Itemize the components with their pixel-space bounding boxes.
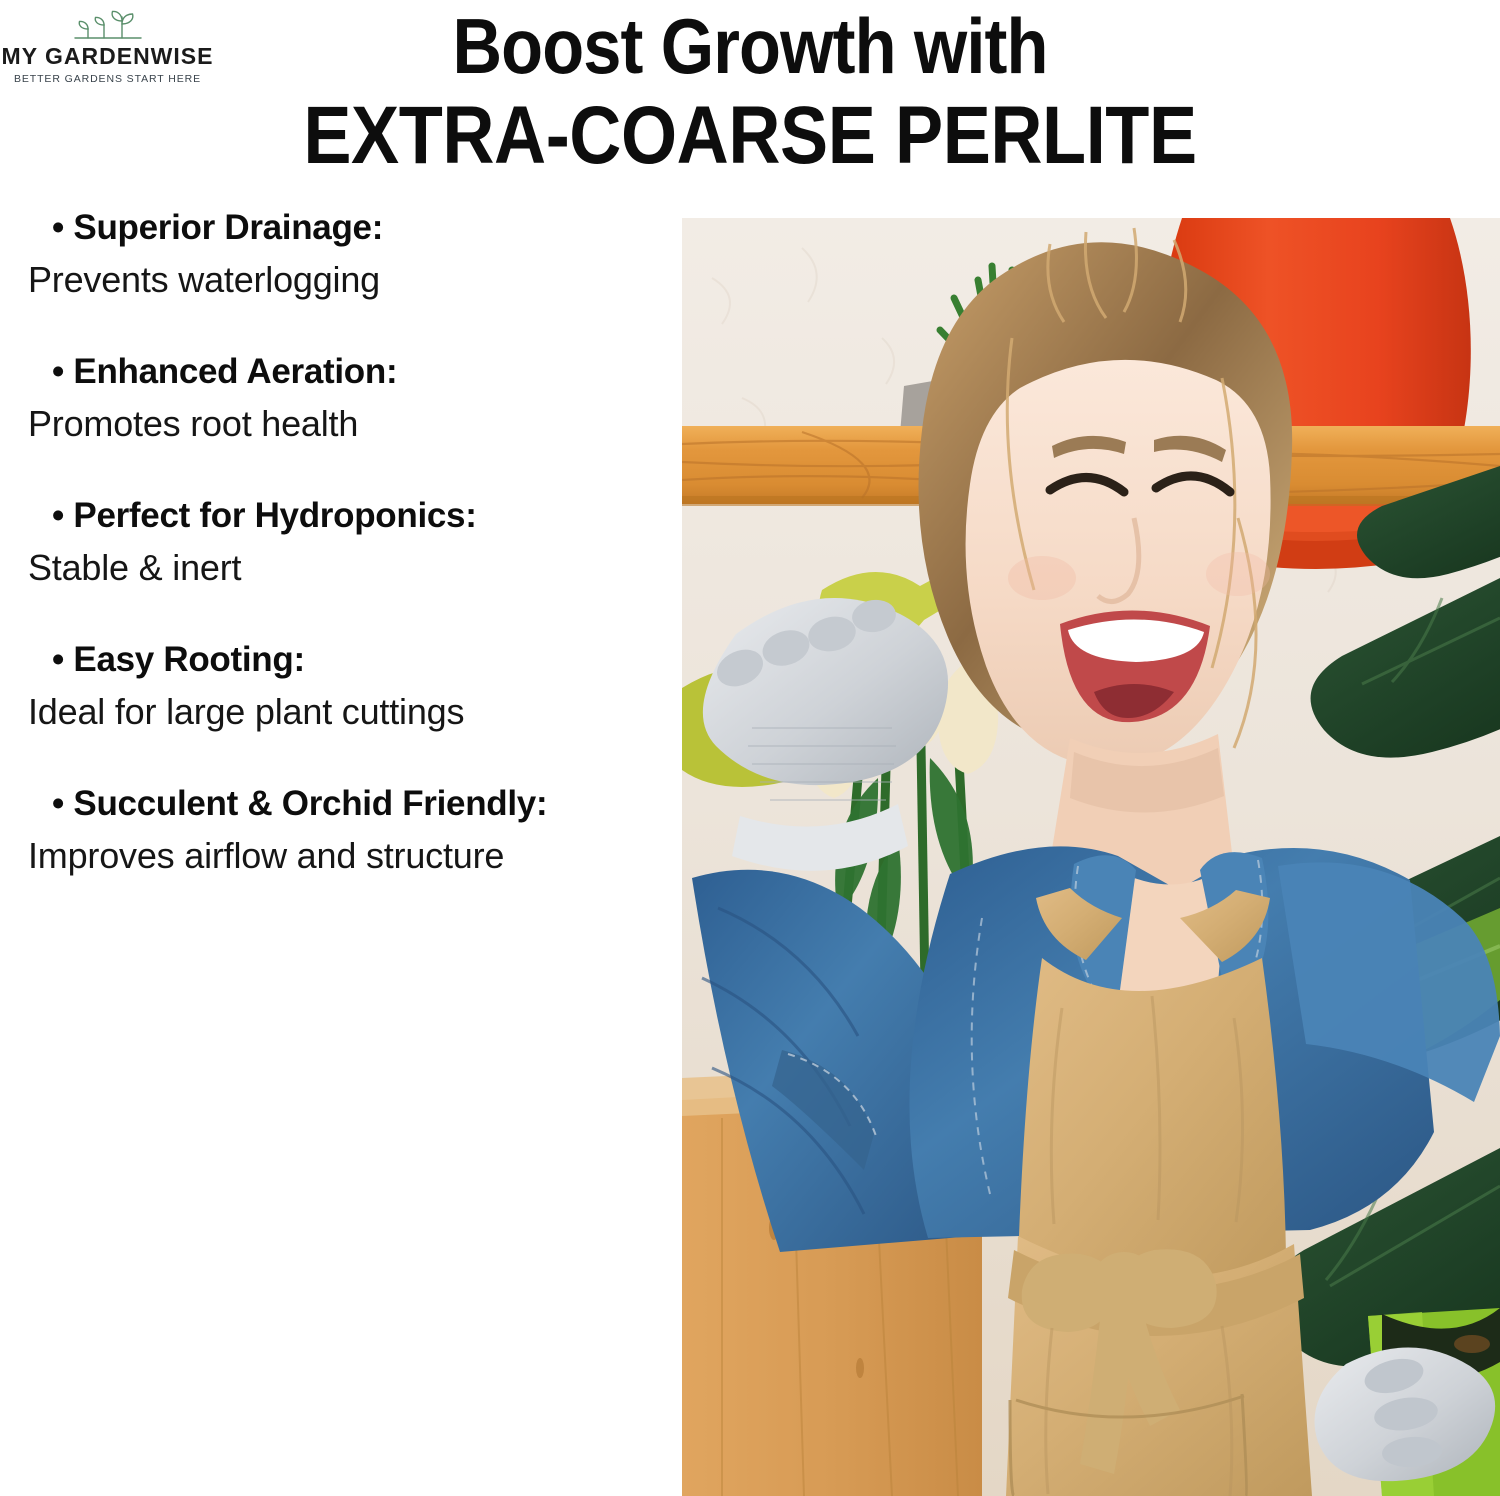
bullet-glyph: • bbox=[52, 496, 64, 535]
benefit-title: • Easy Rooting: bbox=[28, 637, 642, 683]
bullet-glyph: • bbox=[52, 784, 64, 823]
brand-name: MY GARDENWISE bbox=[2, 45, 214, 68]
benefit-description: Prevents waterlogging bbox=[28, 255, 642, 305]
brand-logo: MY GARDENWISE BETTER GARDENS START HERE bbox=[0, 4, 215, 96]
benefit-title-text: Easy Rooting: bbox=[73, 640, 304, 679]
benefit-description: Ideal for large plant cuttings bbox=[28, 687, 642, 737]
benefit-title-text: Perfect for Hydroponics: bbox=[73, 496, 476, 535]
benefit-title: • Enhanced Aeration: bbox=[28, 349, 642, 395]
benefit-title-text: Succulent & Orchid Friendly: bbox=[73, 784, 547, 823]
list-item: • Perfect for Hydroponics: Stable & iner… bbox=[28, 493, 642, 593]
benefit-title: • Perfect for Hydroponics: bbox=[28, 493, 642, 539]
sprout-seedlings-icon bbox=[66, 4, 150, 44]
benefits-list: • Superior Drainage: Prevents waterloggi… bbox=[0, 205, 660, 1496]
benefit-title: • Succulent & Orchid Friendly: bbox=[28, 781, 642, 827]
list-item: • Enhanced Aeration: Promotes root healt… bbox=[28, 349, 642, 449]
benefit-title-text: Superior Drainage: bbox=[73, 208, 383, 247]
brand-tagline: BETTER GARDENS START HERE bbox=[14, 74, 201, 85]
benefit-description: Promotes root health bbox=[28, 399, 642, 449]
bullet-glyph: • bbox=[52, 208, 64, 247]
bullet-glyph: • bbox=[52, 352, 64, 391]
product-lifestyle-photo bbox=[682, 218, 1500, 1496]
headline-line-primary: Boost Growth with bbox=[270, 2, 1229, 90]
list-item: • Superior Drainage: Prevents waterloggi… bbox=[28, 205, 642, 305]
list-item: • Easy Rooting: Ideal for large plant cu… bbox=[28, 637, 642, 737]
benefit-description: Improves airflow and structure bbox=[28, 831, 642, 881]
bullet-glyph: • bbox=[52, 640, 64, 679]
benefit-title: • Superior Drainage: bbox=[28, 205, 642, 251]
page-title: Boost Growth with EXTRA-COARSE PERLITE bbox=[205, 2, 1295, 182]
list-item: • Succulent & Orchid Friendly: Improves … bbox=[28, 781, 642, 881]
headline-line-secondary: EXTRA-COARSE PERLITE bbox=[270, 90, 1229, 182]
gardener-photo-illustration bbox=[682, 218, 1500, 1496]
benefit-description: Stable & inert bbox=[28, 543, 642, 593]
benefit-title-text: Enhanced Aeration: bbox=[73, 352, 397, 391]
